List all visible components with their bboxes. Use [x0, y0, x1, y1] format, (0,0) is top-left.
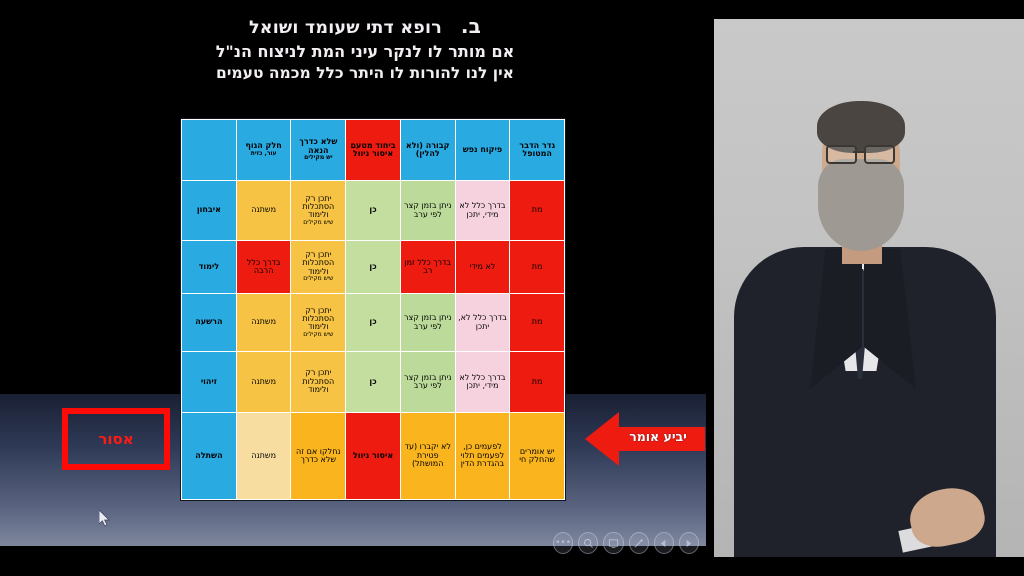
- cell-r5-c3: לא יקברו (עד פטירת המושתל): [400, 413, 455, 500]
- cell-r4-c5: יתכן רק הסתכלות ולימוד: [291, 352, 346, 413]
- cell-r5-c1: יש אומרים שהחלק חי: [510, 413, 565, 500]
- header-nivul-issur: ביחוד מטעם איסור ניוול: [346, 120, 401, 181]
- mouse-cursor: [99, 510, 111, 528]
- speaker-glasses-right: [864, 145, 895, 164]
- forbidden-annotation-box: אסור: [62, 408, 170, 470]
- speaker-video-pane[interactable]: [706, 0, 1024, 576]
- header-shelo-label: שלא כדרך הנאה: [299, 137, 337, 154]
- presentation-toolbar[interactable]: •••: [553, 530, 699, 556]
- heading-line-1: ב. רופא דתי שעומד ושואל: [150, 14, 580, 38]
- cell-r4-c3: ניתן בזמן קצר לפי ערב: [400, 352, 455, 413]
- header-shelo-kederech: שלא כדרך הנאה יש מקילים: [291, 120, 346, 181]
- header-gader-label: גדר הדבר המטופל: [519, 141, 555, 158]
- header-chelek-sub: עור, כזית: [239, 151, 289, 158]
- table-row[interactable]: מת בדרך כלל לא מידי, יתכן ניתן בזמן קצר …: [182, 181, 565, 241]
- cell-r1-c4: כן: [346, 181, 401, 241]
- speaker-video-frame: [714, 19, 1024, 557]
- cell-r2-c3: בדרך כלל זמן רב: [400, 241, 455, 294]
- cell-r1-c5: יתכן רק הסתכלות ולימוד שיש מקילים: [291, 181, 346, 241]
- header-kevura-label: קבורה (ולא להלין): [406, 141, 450, 158]
- cell-r4-c2: בדרך כלל לא מידי, יתכן: [455, 352, 510, 413]
- cell-r1-c1: מת: [510, 181, 565, 241]
- cell-r5-c4: איסור ניוול: [346, 413, 401, 500]
- heading-line-2: אם מותר לו לנקר עיני המת לניצוח הנ"ל: [150, 42, 580, 61]
- header-shelo-sub: יש מקילים: [293, 155, 343, 162]
- pen-icon[interactable]: [629, 532, 649, 554]
- row-label-limud: לימוד: [182, 241, 237, 294]
- table-row[interactable]: מת לא מידי בדרך כלל זמן רב כן יתכן רק הס…: [182, 241, 565, 294]
- cell-r2-c4: כן: [346, 241, 401, 294]
- cell-r1-c3: ניתן בזמן קצר לפי ערב: [400, 181, 455, 241]
- cell-r4-c4: כן: [346, 352, 401, 413]
- row-label-ivchun: איבחון: [182, 181, 237, 241]
- header-pikuach-nefesh: פיקוח נפש: [455, 120, 510, 181]
- row-label-zihuy: זיהוי: [182, 352, 237, 413]
- heading-line-1-text: רופא דתי שעומד ושואל: [249, 18, 442, 38]
- slide-heading: ב. רופא דתי שעומד ושואל אם מותר לו לנקר …: [150, 14, 580, 82]
- heading-line-3: אין לנו להורות לו היתר כלל מכמה טעמים: [150, 64, 580, 82]
- cell-r2-c6: בדרך כלל הרבה: [236, 241, 291, 294]
- search-icon[interactable]: [578, 532, 598, 554]
- cell-r5-c6: משתנה: [236, 413, 291, 500]
- cell-r1-c2: בדרך כלל לא מידי, יתכן: [455, 181, 510, 241]
- cell-r3-c5: יתכן רק הסתכלות ולימוד שיש מקילים: [291, 294, 346, 352]
- previous-slide-icon[interactable]: [654, 532, 674, 554]
- header-nivul-label: ביחוד מטעם איסור ניוול: [350, 141, 395, 158]
- cell-r5-c2: לפעמים כן, לפעמים תלוי בהגדרת הדין: [455, 413, 510, 500]
- table-row[interactable]: מת בדרך כלל לא מידי, יתכן ניתן בזמן קצר …: [182, 352, 565, 413]
- slide-pane[interactable]: ב. רופא דתי שעומד ושואל אם מותר לו לנקר …: [0, 0, 706, 576]
- more-options-icon[interactable]: •••: [553, 532, 573, 554]
- cell-r2-c5-main: יתכן רק הסתכלות ולימוד: [302, 250, 334, 276]
- heading-bullet: ב.: [461, 14, 481, 38]
- cell-r2-c5: יתכן רק הסתכלות ולימוד שיש מקילים: [291, 241, 346, 294]
- source-arrow-label: יביע אומר: [619, 429, 697, 444]
- cell-r2-c2: לא מידי: [455, 241, 510, 294]
- matrix-body: גדר הדבר המטופל פיקוח נפש קבורה (ולא להל…: [182, 120, 565, 500]
- cell-r1-c6: משתנה: [236, 181, 291, 241]
- present-screen-icon[interactable]: [603, 532, 623, 554]
- cell-r2-c1: מת: [510, 241, 565, 294]
- header-pikuach-label: פיקוח נפש: [463, 145, 503, 154]
- cell-r2-c5-sub: שיש מקילים: [293, 276, 343, 283]
- speaker-glasses-left: [826, 145, 857, 164]
- cell-r1-c5-sub: שיש מקילים: [293, 220, 343, 227]
- cell-r3-c4: כן: [346, 294, 401, 352]
- cell-r3-c5-sub: שיש מקילים: [293, 332, 343, 339]
- cell-r3-c3: ניתן בזמן קצר לפי ערב: [400, 294, 455, 352]
- next-slide-icon[interactable]: [679, 532, 699, 554]
- cell-r3-c1: מת: [510, 294, 565, 352]
- row-label-harshaa: הרשעה: [182, 294, 237, 352]
- cell-r3-c6: משתנה: [236, 294, 291, 352]
- header-rowlabel-blank: [182, 120, 237, 181]
- header-gader: גדר הדבר המטופל: [510, 120, 565, 181]
- header-kevura: קבורה (ולא להלין): [400, 120, 455, 181]
- speaker-glasses-bridge: [853, 151, 864, 153]
- speaker-beard: [818, 159, 904, 251]
- cell-r3-c2: בדרך כלל לא, יתכן: [455, 294, 510, 352]
- table-row[interactable]: מת בדרך כלל לא, יתכן ניתן בזמן קצר לפי ע…: [182, 294, 565, 352]
- table-row[interactable]: יש אומרים שהחלק חי לפעמים כן, לפעמים תלו…: [182, 413, 565, 500]
- cell-r4-c6: משתנה: [236, 352, 291, 413]
- forbidden-annotation-label: אסור: [98, 430, 133, 448]
- cell-r5-c5: נחלקו אם זה שלא כדרך: [291, 413, 346, 500]
- cell-r1-c5-main: יתכן רק הסתכלות ולימוד: [302, 194, 334, 220]
- screen-stage: ב. רופא דתי שעומד ושואל אם מותר לו לנקר …: [0, 0, 1024, 576]
- header-chelek-haguf: חלק הגוף עור, כזית: [236, 120, 291, 181]
- matrix-header-row: גדר הדבר המטופל פיקוח נפש קבורה (ולא להל…: [182, 120, 565, 181]
- comparison-matrix-table[interactable]: גדר הדבר המטופל פיקוח נפש קבורה (ולא להל…: [181, 119, 565, 500]
- cell-r4-c1: מת: [510, 352, 565, 413]
- source-arrow-annotation: יביע אומר: [585, 410, 705, 468]
- cell-r3-c5-main: יתכן רק הסתכלות ולימוד: [302, 306, 334, 332]
- row-label-hashtala: השתלה: [182, 413, 237, 500]
